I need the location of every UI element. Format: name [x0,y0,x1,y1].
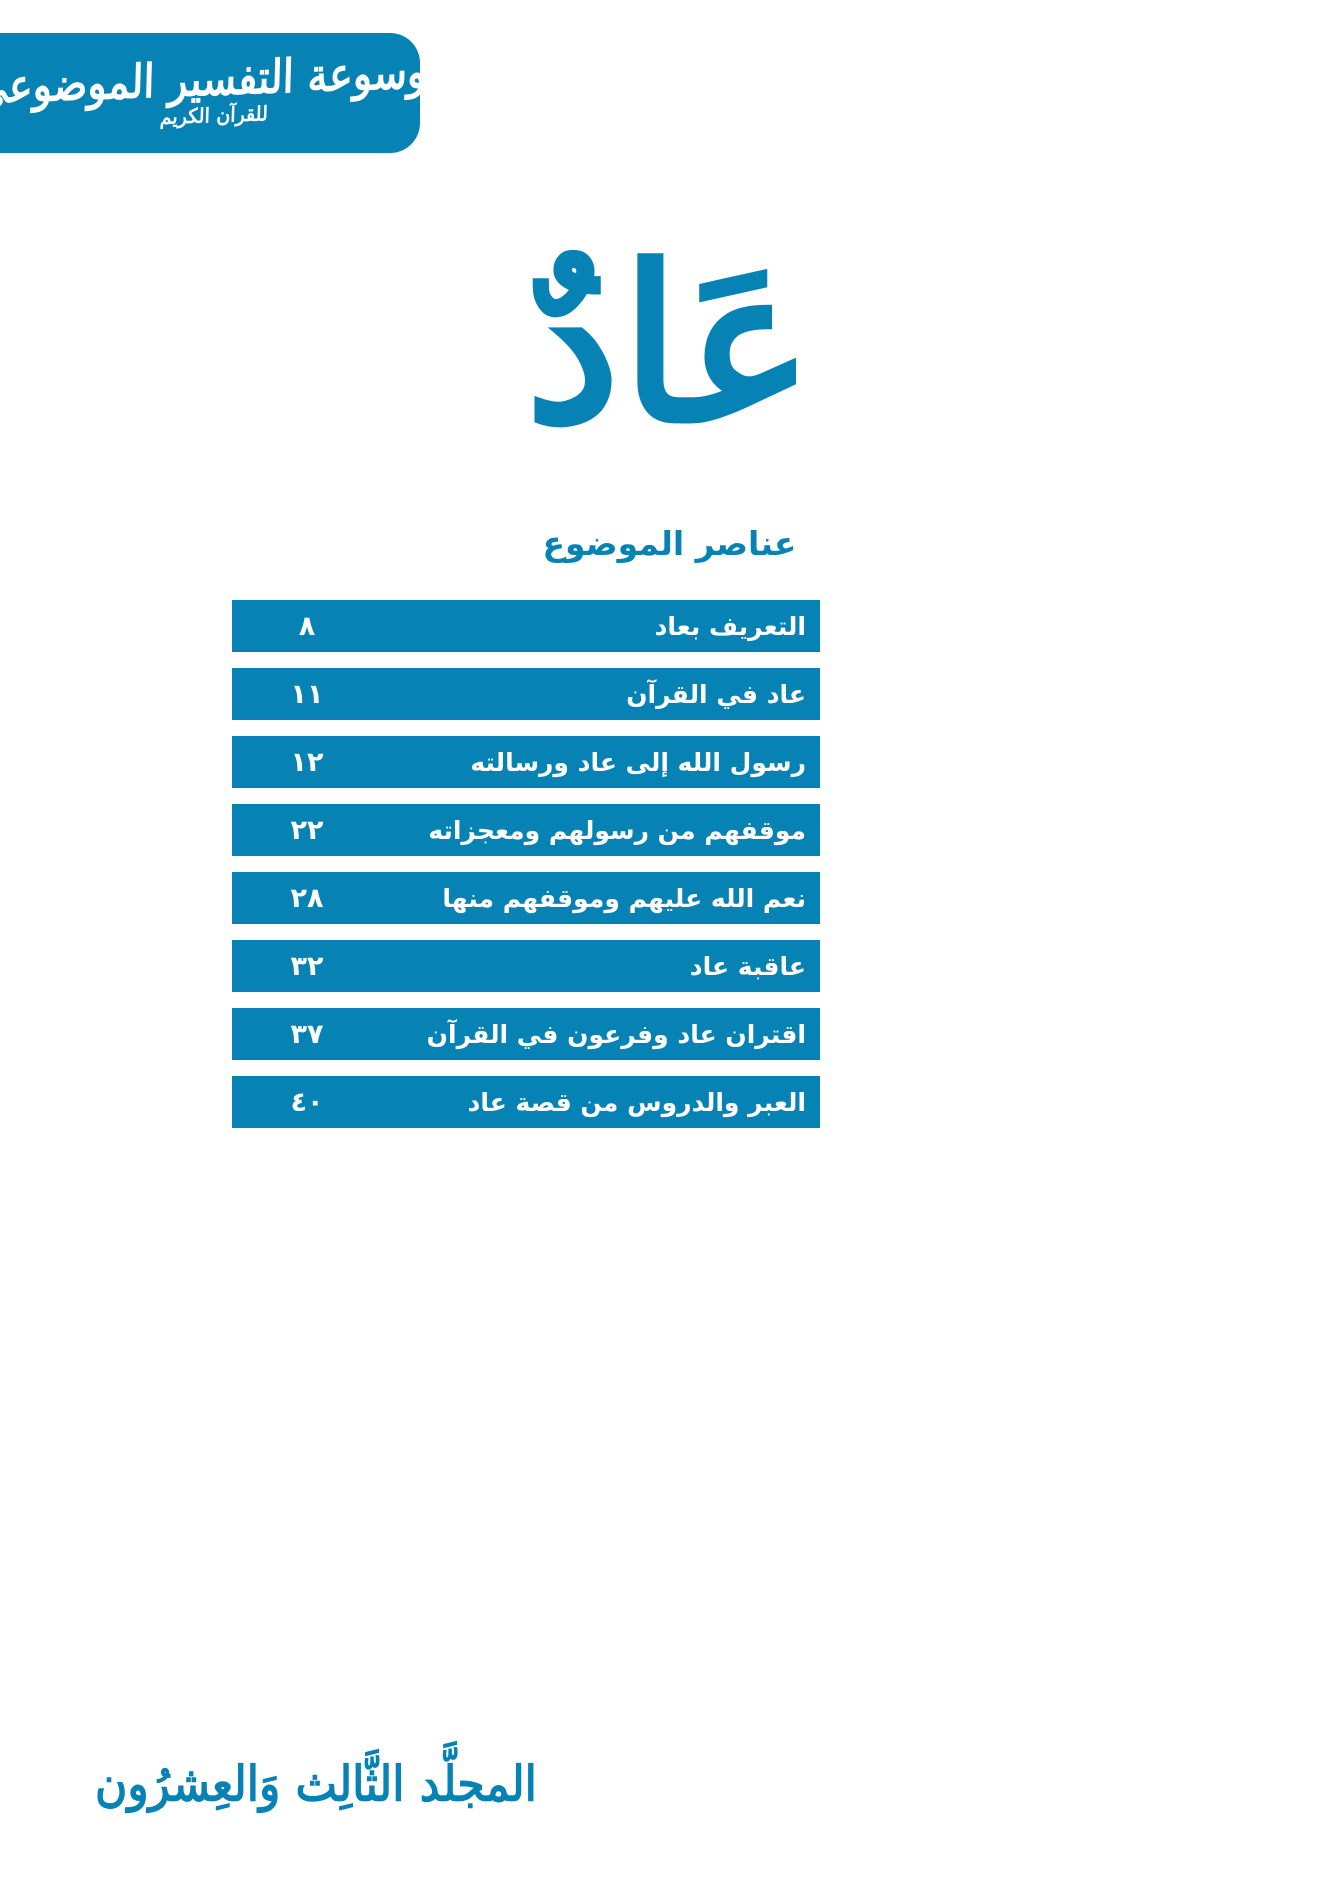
toc-row[interactable]: رسول الله إلى عاد ورسالته ١٢ [232,736,820,788]
logo-sub-text: للقرآن الكريم [160,105,269,129]
page-title: عَادٌ [0,214,1339,474]
toc-row-page-number: ٣٢ [232,951,382,982]
header-banner: موسوعة التفسير الموضوعي للقرآن الكريم [0,33,420,153]
toc-row[interactable]: العبر والدروس من قصة عاد ٤٠ [232,1076,820,1128]
encyclopedia-logo: موسوعة التفسير الموضوعي للقرآن الكريم [0,52,451,135]
toc-row-page-number: ٤٠ [232,1087,382,1118]
toc-row[interactable]: عاد في القرآن ١١ [232,668,820,720]
section-heading: عناصر الموضوع [0,524,1339,563]
toc-row[interactable]: التعريف بعاد ٨ [232,600,820,652]
toc-row-page-number: ٣٧ [232,1019,382,1050]
toc-row-label: التعريف بعاد [655,612,820,641]
toc-row-label: موقفهم من رسولهم ومعجزاته [428,816,820,845]
toc-row[interactable]: موقفهم من رسولهم ومعجزاته ٢٢ [232,804,820,856]
toc-row[interactable]: عاقبة عاد ٣٢ [232,940,820,992]
toc-row[interactable]: اقتران عاد وفرعون في القرآن ٣٧ [232,1008,820,1060]
volume-label: المجلَّد الثَّالِث وَالعِشرُون [95,1756,537,1812]
toc-row-page-number: ٨ [232,611,382,642]
toc-row-page-number: ٢٢ [232,815,382,846]
toc-row[interactable]: نعم الله عليهم وموقفهم منها ٢٨ [232,872,820,924]
toc-row-page-number: ٢٨ [232,883,382,914]
toc-row-label: اقتران عاد وفرعون في القرآن [427,1020,820,1049]
toc-row-label: نعم الله عليهم وموقفهم منها [442,884,820,913]
toc-row-label: عاد في القرآن [626,680,820,709]
table-of-contents: التعريف بعاد ٨ عاد في القرآن ١١ رسول الل… [232,600,820,1144]
toc-row-label: العبر والدروس من قصة عاد [468,1088,820,1117]
toc-row-label: رسول الله إلى عاد ورسالته [470,748,820,777]
toc-row-page-number: ١٢ [232,747,382,778]
toc-row-page-number: ١١ [232,679,382,710]
logo-main-text: موسوعة التفسير الموضوعي [0,49,450,112]
toc-row-label: عاقبة عاد [690,952,820,981]
